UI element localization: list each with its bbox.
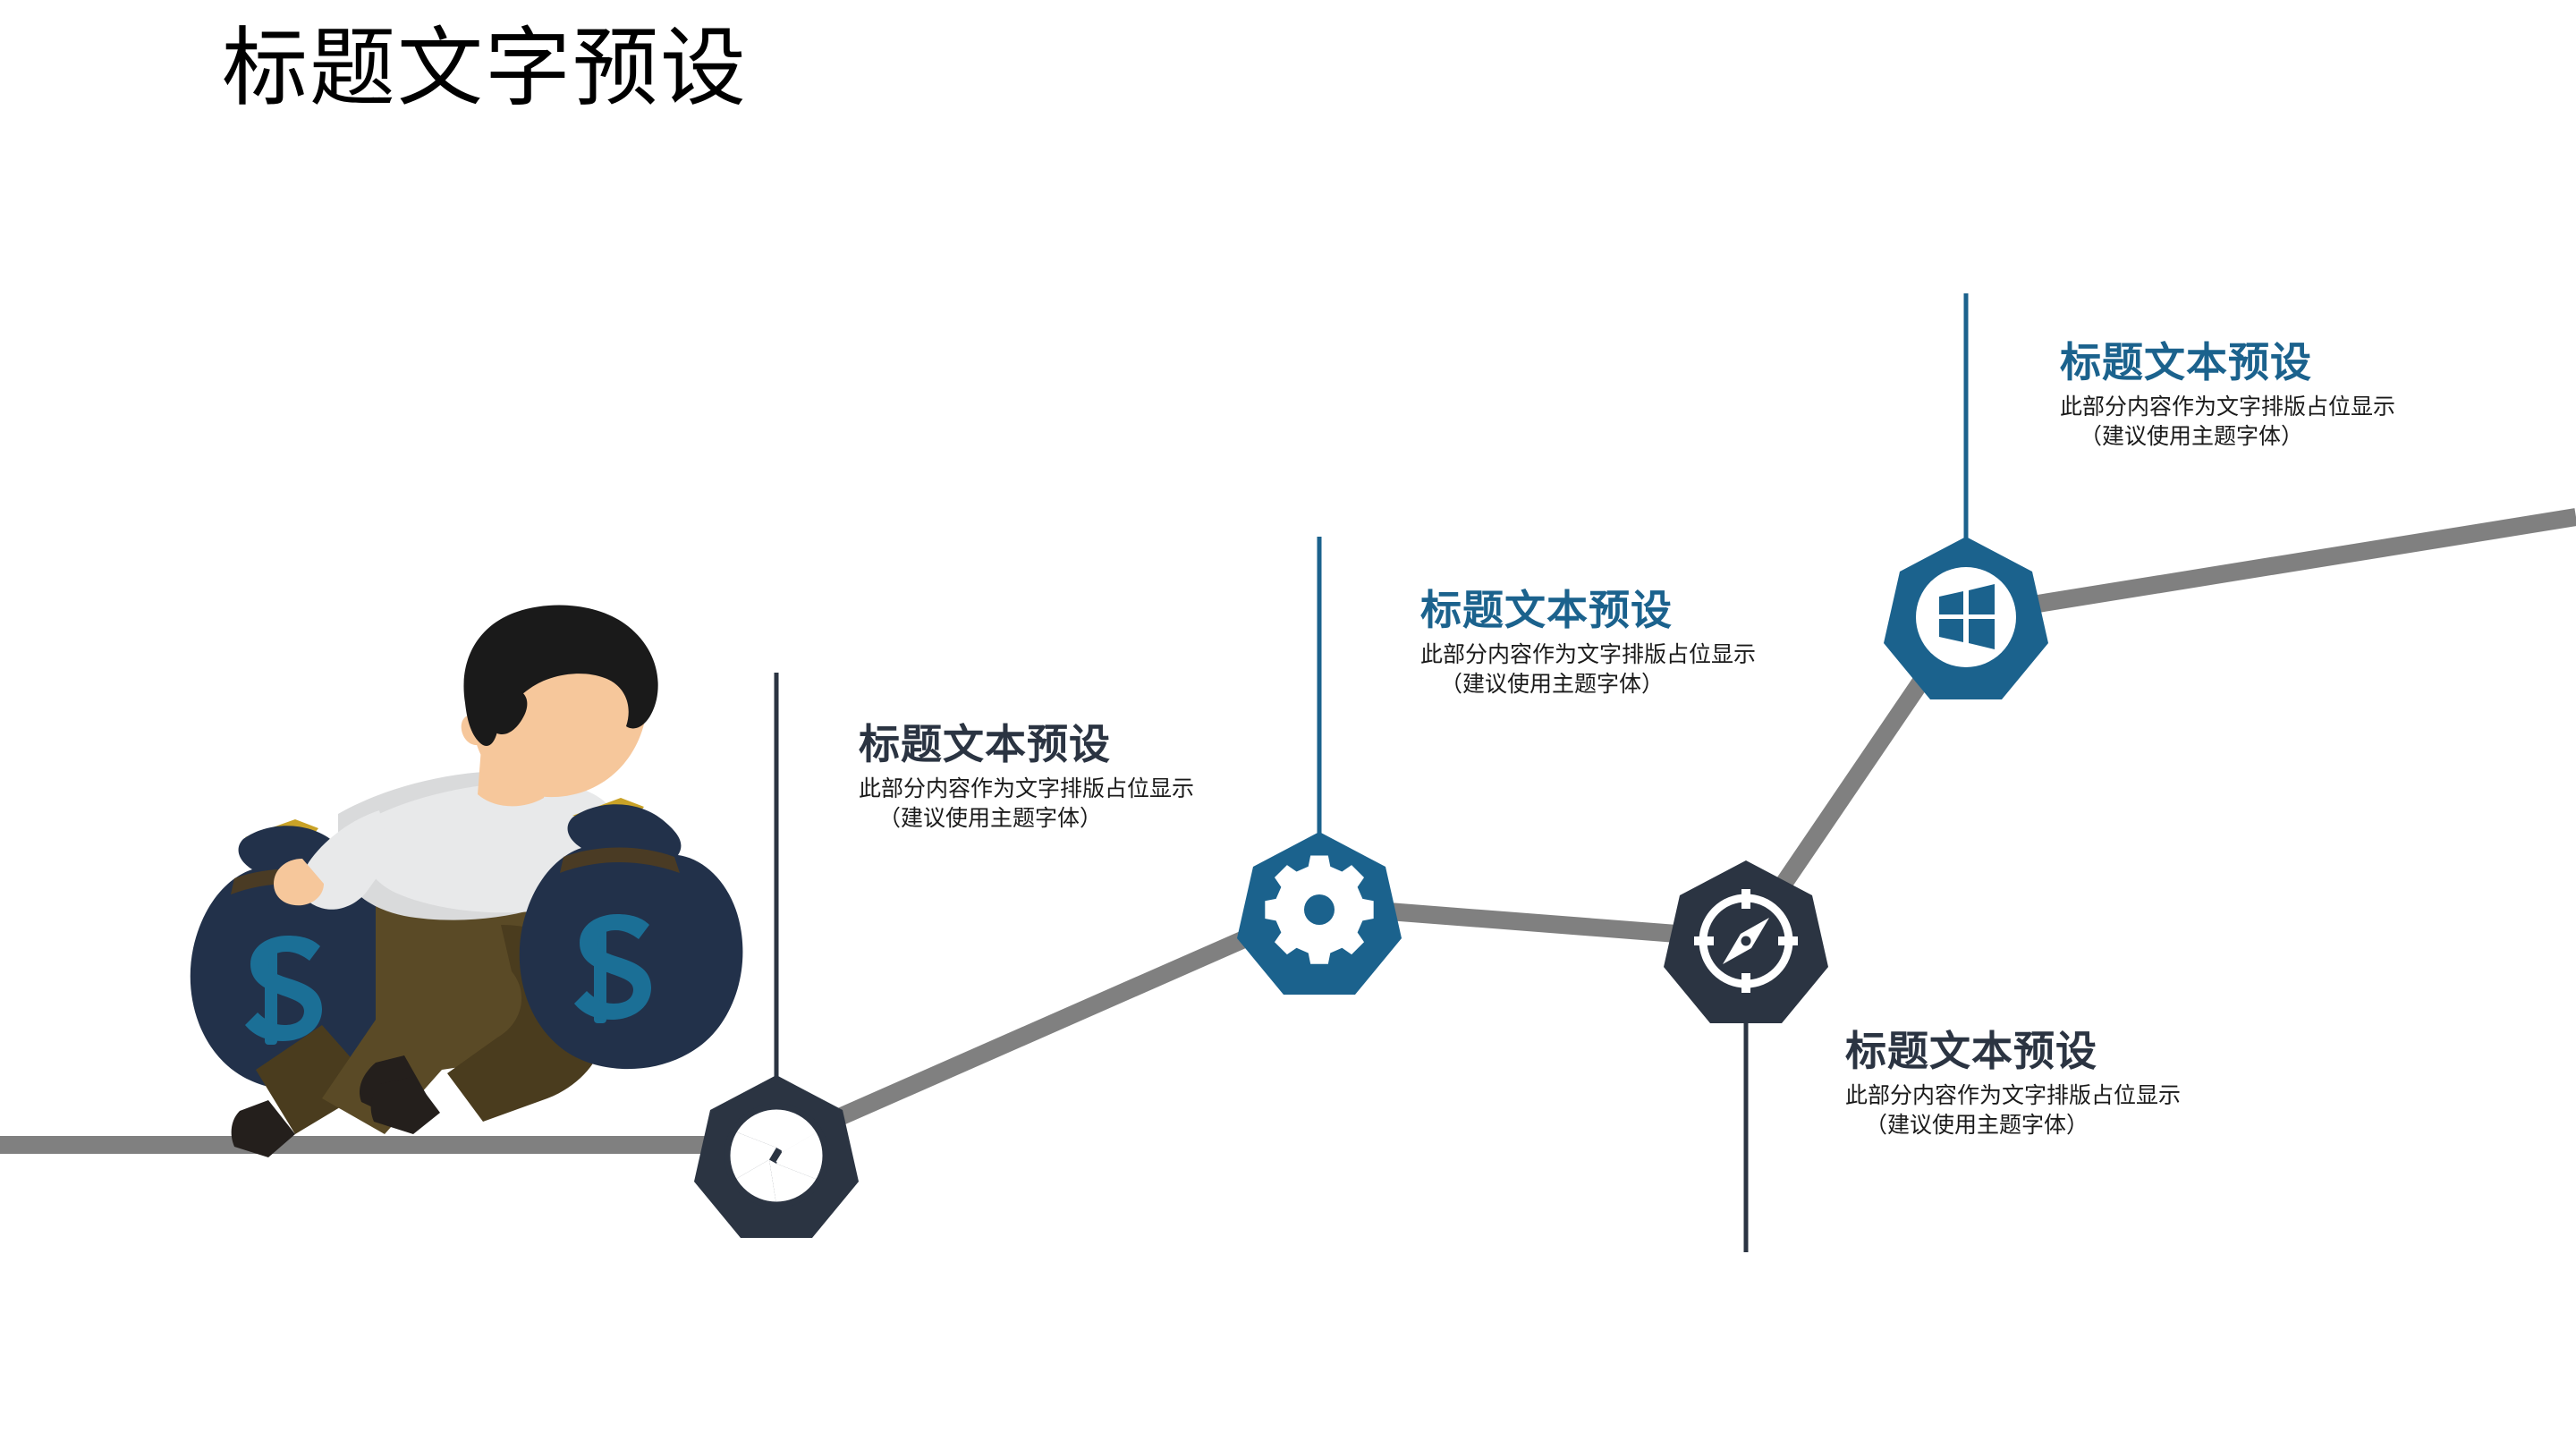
node-aperture[interactable] bbox=[694, 1075, 859, 1238]
callout-1-heading: 标题文本预设 bbox=[859, 720, 1288, 769]
callout-2-heading: 标题文本预设 bbox=[1420, 586, 1850, 635]
node-aperture-badge bbox=[694, 1075, 859, 1238]
callout-4-note: （建议使用主题字体） bbox=[1845, 1111, 2275, 1140]
callout-4-body: 此部分内容作为文字排版占位显示 bbox=[1845, 1081, 2239, 1111]
callout-4: 标题文本预设 此部分内容作为文字排版占位显示 （建议使用主题字体） bbox=[1845, 1027, 2275, 1140]
callout-1-note: （建议使用主题字体） bbox=[859, 804, 1288, 834]
slide-canvas: 标题文字预设 bbox=[0, 0, 2576, 1449]
callout-1-body: 此部分内容作为文字排版占位显示 bbox=[859, 775, 1252, 804]
callout-3-note: （建议使用主题字体） bbox=[2060, 422, 2489, 452]
node-gear[interactable] bbox=[1237, 832, 1402, 995]
callout-3-heading: 标题文本预设 bbox=[2060, 338, 2489, 387]
callout-3: 标题文本预设 此部分内容作为文字排版占位显示 （建议使用主题字体） bbox=[2060, 338, 2489, 451]
callout-2: 标题文本预设 此部分内容作为文字排版占位显示 （建议使用主题字体） bbox=[1420, 586, 1850, 699]
node-compass[interactable] bbox=[1664, 860, 1828, 1023]
callout-3-body: 此部分内容作为文字排版占位显示 bbox=[2060, 393, 2453, 422]
callout-2-body: 此部分内容作为文字排版占位显示 bbox=[1420, 640, 1814, 670]
callout-1: 标题文本预设 此部分内容作为文字排版占位显示 （建议使用主题字体） bbox=[859, 720, 1288, 833]
milestone-nodes bbox=[0, 0, 2576, 1449]
callout-2-note: （建议使用主题字体） bbox=[1420, 670, 1850, 699]
node-windows-disc bbox=[1916, 567, 2016, 667]
callout-4-heading: 标题文本预设 bbox=[1845, 1027, 2275, 1076]
node-windows[interactable] bbox=[1884, 537, 2048, 699]
gear-icon bbox=[1265, 855, 1373, 963]
